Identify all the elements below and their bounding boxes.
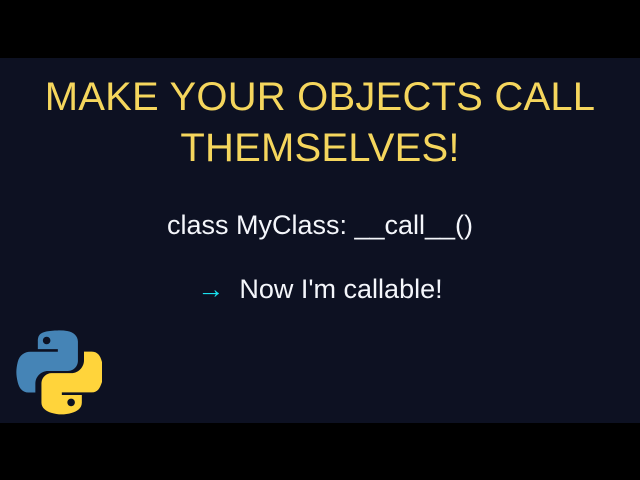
callout-row: → Now I'm callable!: [0, 272, 640, 306]
callout-label: Now I'm callable!: [239, 272, 442, 306]
arrow-right-icon: →: [197, 272, 224, 306]
python-logo-icon: [14, 322, 102, 417]
letterbox-bottom-bar: [0, 423, 640, 480]
page-title: MAKE YOUR OBJECTS CALL THEMSELVES!: [0, 72, 640, 174]
code-snippet-text: class MyClass: __call__(): [0, 208, 640, 242]
slide-content-stage: MAKE YOUR OBJECTS CALL THEMSELVES! class…: [0, 58, 640, 423]
slide-frame: MAKE YOUR OBJECTS CALL THEMSELVES! class…: [0, 0, 640, 480]
letterbox-top-bar: [0, 0, 640, 58]
